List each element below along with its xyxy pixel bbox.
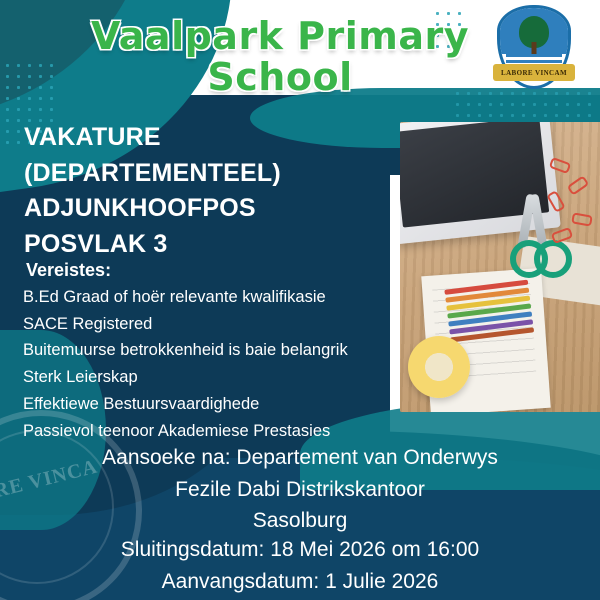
tree-trunk-icon [532,42,537,54]
list-item: Passievol teenoor Akademiese Prestasies [23,418,423,445]
start-date: Aanvangsdatum: 1 Julie 2026 [0,566,600,598]
poster: ORE VINCA [0,0,600,600]
list-item: Sterk Leierskap [23,364,423,391]
crest-motto-text: LABORE VINCAM [501,69,567,77]
requirements-title: Vereistes: [26,260,111,281]
headline-line-3: POSVLAK 3 [24,227,404,263]
vacancy-headline: VAKATURE (DEPARTEMENTEEL) ADJUNKHOOFPOS … [24,120,404,262]
requirements-list: B.Ed Graad of hoër relevante kwalifikasi… [23,284,423,444]
address-line-1: Aansoeke na: Departement van Onderwys [0,442,600,474]
crest-motto-ribbon: LABORE VINCAM [493,64,575,81]
school-name: Vaalpark Primary School [60,16,500,98]
headline-line-1: VAKATURE (DEPARTEMENTEEL) [24,120,404,191]
key-dates: Sluitingsdatum: 18 Mei 2026 om 16:00 Aan… [0,534,600,597]
stationery-photo [400,122,600,412]
closing-date: Sluitingsdatum: 18 Mei 2026 om 16:00 [0,534,600,566]
list-item: SACE Registered [23,311,423,338]
school-logo: LABORE VINCAM [497,5,571,89]
headline-line-2: ADJUNKHOOFPOS [24,191,404,227]
address-line-3: Sasolburg [0,505,600,537]
list-item: Buitemuurse betrokkenheid is baie belang… [23,337,423,364]
list-item: B.Ed Graad of hoër relevante kwalifikasi… [23,284,423,311]
application-address: Aansoeke na: Departement van Onderwys Fe… [0,442,600,537]
list-item: Effektiewe Bestuursvaardighede [23,391,423,418]
address-line-2: Fezile Dabi Distrikskantoor [0,474,600,506]
